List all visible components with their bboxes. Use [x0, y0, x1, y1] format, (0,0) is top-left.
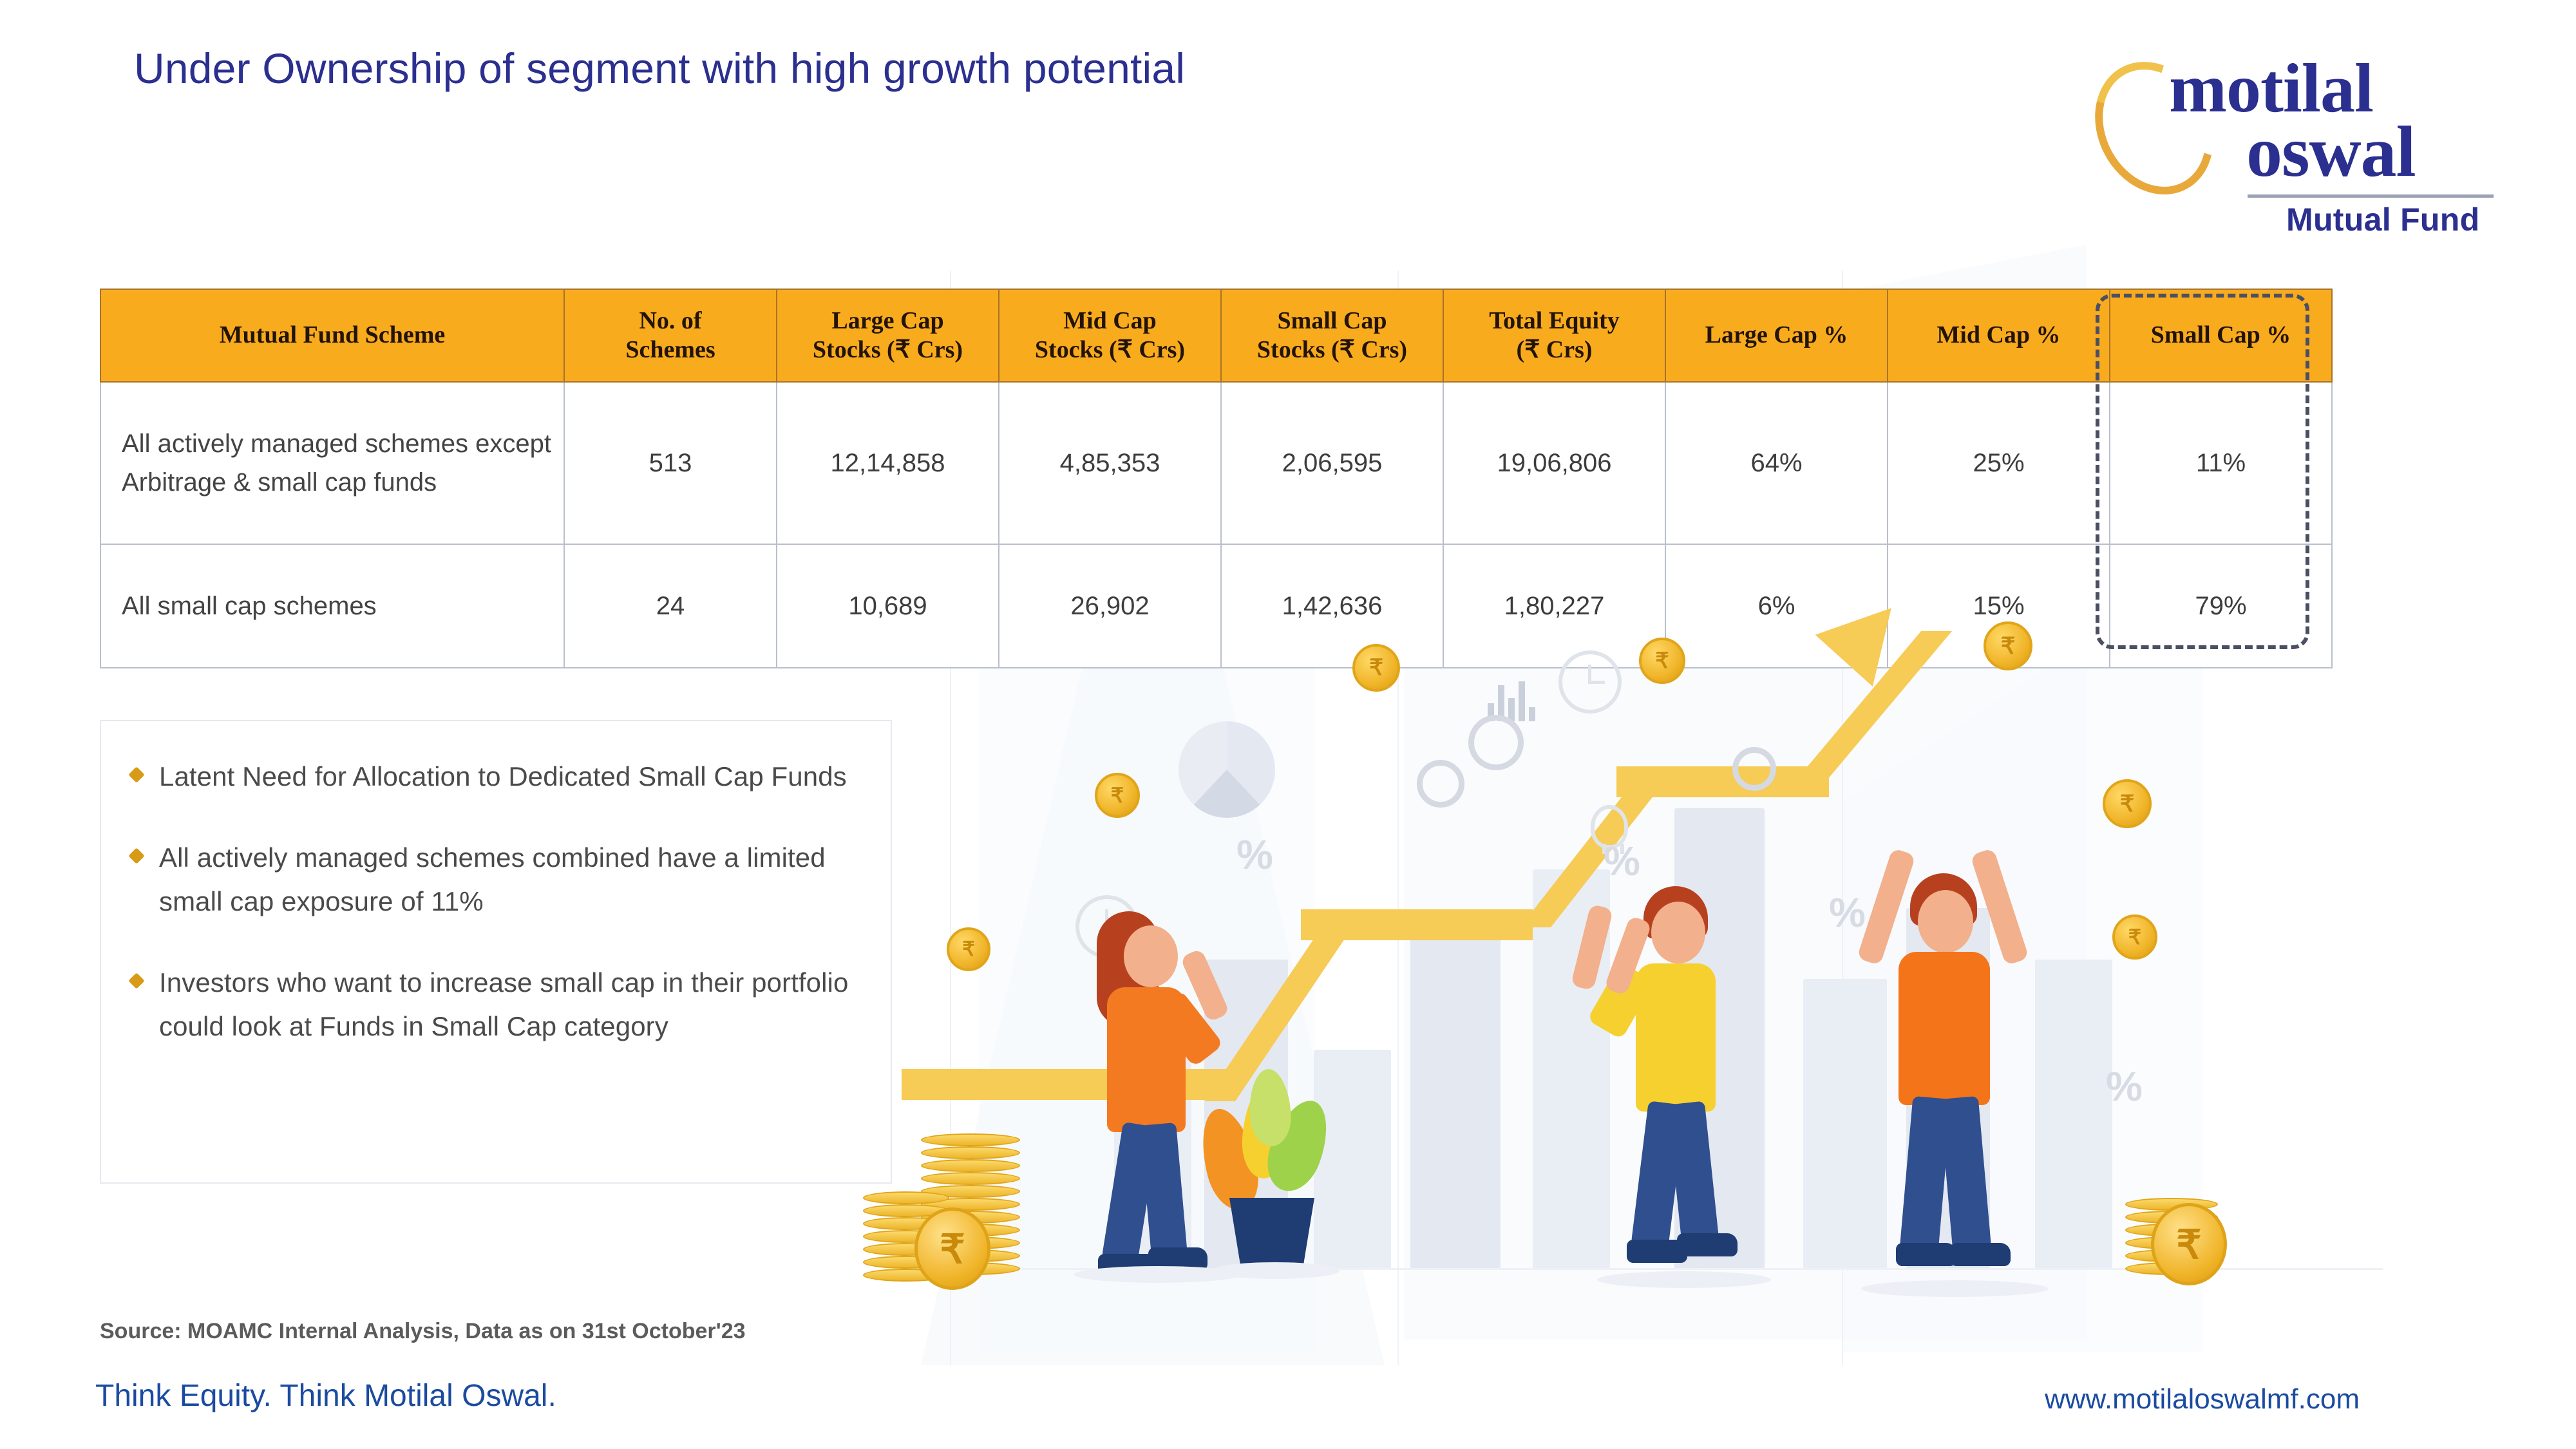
percent-symbol: % — [1604, 837, 1640, 885]
table-header-row: Mutual Fund Scheme No. of Schemes Large … — [100, 289, 2332, 382]
shoe — [1896, 1243, 1956, 1266]
col-header-line2: Stocks (₹ Crs) — [1003, 336, 1217, 365]
shoe — [1950, 1243, 2011, 1266]
cell-no-of-schemes: 513 — [564, 382, 777, 544]
percent-symbol: % — [1829, 889, 1866, 936]
col-header-line2: Stocks (₹ Crs) — [781, 336, 994, 365]
rupee-symbol: ₹ — [1369, 655, 1383, 681]
arm-raised — [1970, 848, 2029, 966]
gear-icon — [1417, 760, 1464, 808]
tagline: Think Equity. Think Motilal Oswal. — [95, 1378, 556, 1414]
illus-bar — [1314, 1050, 1391, 1269]
cell-mid-cap-stocks: 26,902 — [999, 544, 1221, 668]
rupee-coin-icon: ₹ — [947, 927, 990, 971]
cell-scheme: All actively managed schemes except Arbi… — [100, 382, 564, 544]
cell-large-cap-stocks: 10,689 — [777, 544, 999, 668]
slide: Under Ownership of segment with high gro… — [0, 0, 2576, 1449]
col-header-line1: Total Equity — [1448, 307, 1661, 336]
cell-large-cap-pct: 64% — [1665, 382, 1888, 544]
percent-symbol: % — [1236, 831, 1273, 878]
logo-word-oswal: oswal — [2246, 116, 2416, 188]
person-shadow — [1861, 1280, 2048, 1297]
percent-symbol: % — [2106, 1063, 2143, 1110]
pie-chart-icon — [1179, 721, 1275, 818]
head — [1124, 925, 1178, 987]
col-header-total-equity: Total Equity (₹ Crs) — [1443, 289, 1665, 382]
rupee-coin-large-icon: ₹ — [2151, 1203, 2227, 1285]
person-right — [1868, 876, 2061, 1288]
leg — [1140, 1122, 1188, 1257]
col-header-line1: Large Cap — [781, 307, 994, 336]
plant-shadow — [1211, 1262, 1340, 1279]
brand-logo: motilal oswal Mutual Fund — [2093, 45, 2492, 238]
col-header-scheme: Mutual Fund Scheme — [100, 289, 564, 382]
page-title: Under Ownership of segment with high gro… — [134, 44, 1185, 93]
leg — [1667, 1101, 1719, 1243]
arrow-segment-mid — [1301, 909, 1533, 940]
person-left — [1079, 911, 1259, 1291]
rupee-coin-icon: ₹ — [2103, 779, 2152, 828]
rupee-coin-icon: ₹ — [1095, 773, 1140, 818]
gear-icon — [1468, 715, 1524, 770]
torso — [1899, 952, 1990, 1105]
person-shadow — [1597, 1271, 1771, 1288]
rupee-symbol: ₹ — [2001, 633, 2016, 659]
gear-icon — [1732, 747, 1776, 791]
rupee-coin-icon: ₹ — [1984, 621, 2032, 670]
cell-small-cap-stocks: 1,42,636 — [1221, 544, 1443, 668]
illus-bar — [1410, 914, 1501, 1269]
cell-mid-cap-pct: 25% — [1888, 382, 2110, 544]
rupee-symbol: ₹ — [940, 1226, 965, 1273]
leg — [1940, 1096, 1992, 1252]
col-header-large-cap-pct: Large Cap % — [1665, 289, 1888, 382]
head — [1651, 902, 1705, 963]
col-header-line2: (₹ Crs) — [1448, 336, 1661, 365]
table-row: All actively managed schemes except Arbi… — [100, 382, 2332, 544]
rupee-symbol: ₹ — [1111, 783, 1124, 808]
insights-panel: Latent Need for Allocation to Dedicated … — [100, 720, 892, 1184]
rupee-symbol: ₹ — [2176, 1221, 2201, 1268]
list-item: All actively managed schemes combined ha… — [131, 836, 861, 923]
source-note: Source: MOAMC Internal Analysis, Data as… — [100, 1319, 746, 1344]
cell-large-cap-stocks: 12,14,858 — [777, 382, 999, 544]
cell-total-equity: 19,06,806 — [1443, 382, 1665, 544]
list-item-label: Investors who want to increase small cap… — [159, 961, 861, 1048]
col-header-line2: Stocks (₹ Crs) — [1226, 336, 1439, 365]
col-header-line2: Schemes — [569, 336, 772, 365]
rupee-coin-icon: ₹ — [1639, 638, 1685, 684]
arrow-segment-top — [1616, 766, 1829, 797]
col-header-mid-cap-pct: Mid Cap % — [1888, 289, 2110, 382]
col-header-line1: No. of — [569, 307, 772, 336]
rupee-symbol: ₹ — [2128, 925, 2142, 949]
cell-small-cap-stocks: 2,06,595 — [1221, 382, 1443, 544]
growth-illustration: % % % % ₹ ₹ ₹ ₹ ₹ ₹ ₹ — [902, 657, 2383, 1307]
list-item: Latent Need for Allocation to Dedicated … — [131, 755, 861, 799]
head — [1918, 890, 1973, 953]
bullet-diamond-icon — [128, 766, 144, 782]
rupee-symbol: ₹ — [1655, 648, 1669, 674]
cell-no-of-schemes: 24 — [564, 544, 777, 668]
rupee-coin-large-icon: ₹ — [914, 1207, 990, 1290]
shoe — [1677, 1233, 1738, 1256]
rupee-symbol: ₹ — [962, 938, 975, 961]
col-header-no-of-schemes: No. of Schemes — [564, 289, 777, 382]
logo-subtitle: Mutual Fund — [2286, 201, 2479, 238]
cell-total-equity: 1,80,227 — [1443, 544, 1665, 668]
clock-icon — [1558, 650, 1622, 714]
col-header-line1: Small Cap — [1226, 307, 1439, 336]
bullet-diamond-icon — [128, 848, 144, 864]
rupee-coin-icon: ₹ — [1352, 644, 1400, 692]
cell-small-cap-pct: 79% — [2110, 544, 2332, 668]
rupee-coin-icon: ₹ — [2112, 914, 2157, 960]
cell-scheme: All small cap schemes — [100, 544, 564, 668]
col-header-mid-cap-stocks: Mid Cap Stocks (₹ Crs) — [999, 289, 1221, 382]
list-item-label: Latent Need for Allocation to Dedicated … — [159, 755, 847, 799]
cell-mid-cap-stocks: 4,85,353 — [999, 382, 1221, 544]
col-header-small-cap-pct: Small Cap % — [2110, 289, 2332, 382]
cell-small-cap-pct: 11% — [2110, 382, 2332, 544]
col-header-small-cap-stocks: Small Cap Stocks (₹ Crs) — [1221, 289, 1443, 382]
bullet-diamond-icon — [128, 972, 144, 989]
website-link[interactable]: www.motilaloswalmf.com — [2045, 1383, 2360, 1416]
list-item: Investors who want to increase small cap… — [131, 961, 861, 1048]
col-header-line1: Mid Cap — [1003, 307, 1217, 336]
logo-divider — [2248, 194, 2494, 198]
list-item-label: All actively managed schemes combined ha… — [159, 836, 861, 923]
ownership-table: Mutual Fund Scheme No. of Schemes Large … — [100, 289, 2333, 668]
col-header-large-cap-stocks: Large Cap Stocks (₹ Crs) — [777, 289, 999, 382]
person-middle — [1604, 889, 1784, 1291]
rupee-symbol: ₹ — [2120, 791, 2135, 817]
